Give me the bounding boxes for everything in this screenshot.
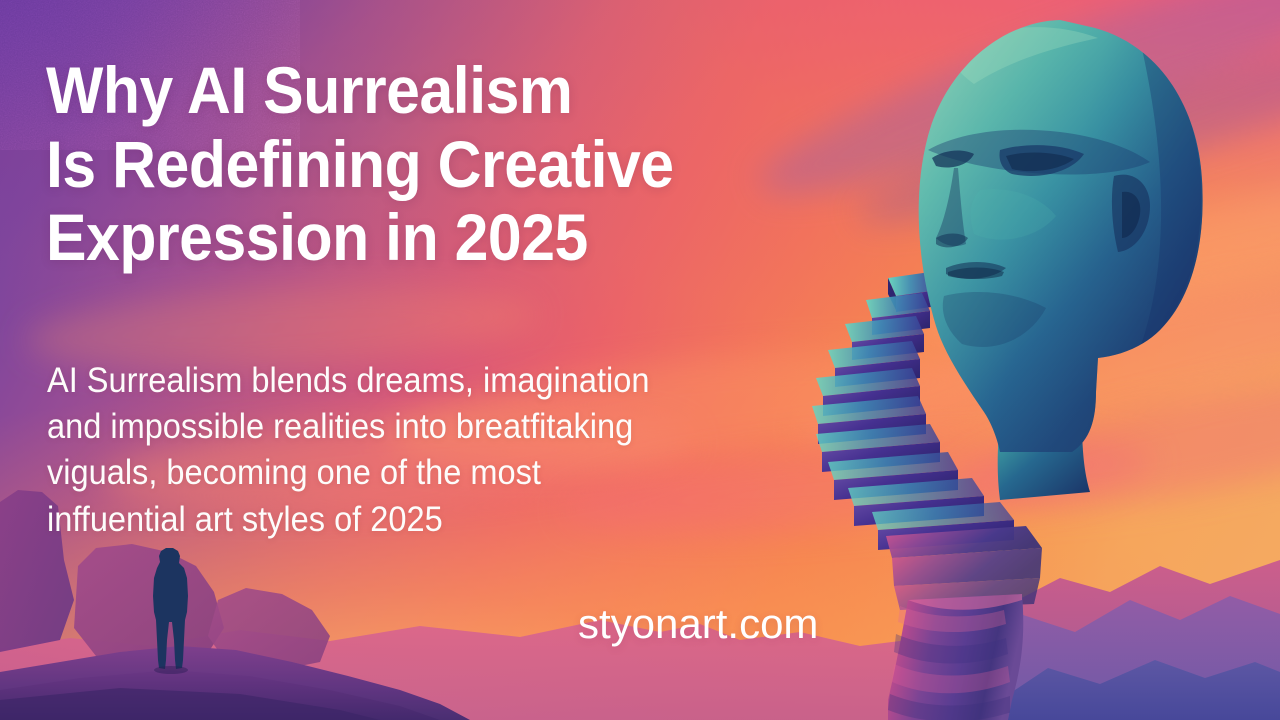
surreal-head-sculpture xyxy=(900,0,1240,500)
poster-canvas: Why AI Surrealism Is Redefining Creative… xyxy=(0,0,1280,720)
twisted-column xyxy=(888,594,1023,720)
surreal-statue-illustration xyxy=(0,0,1280,720)
